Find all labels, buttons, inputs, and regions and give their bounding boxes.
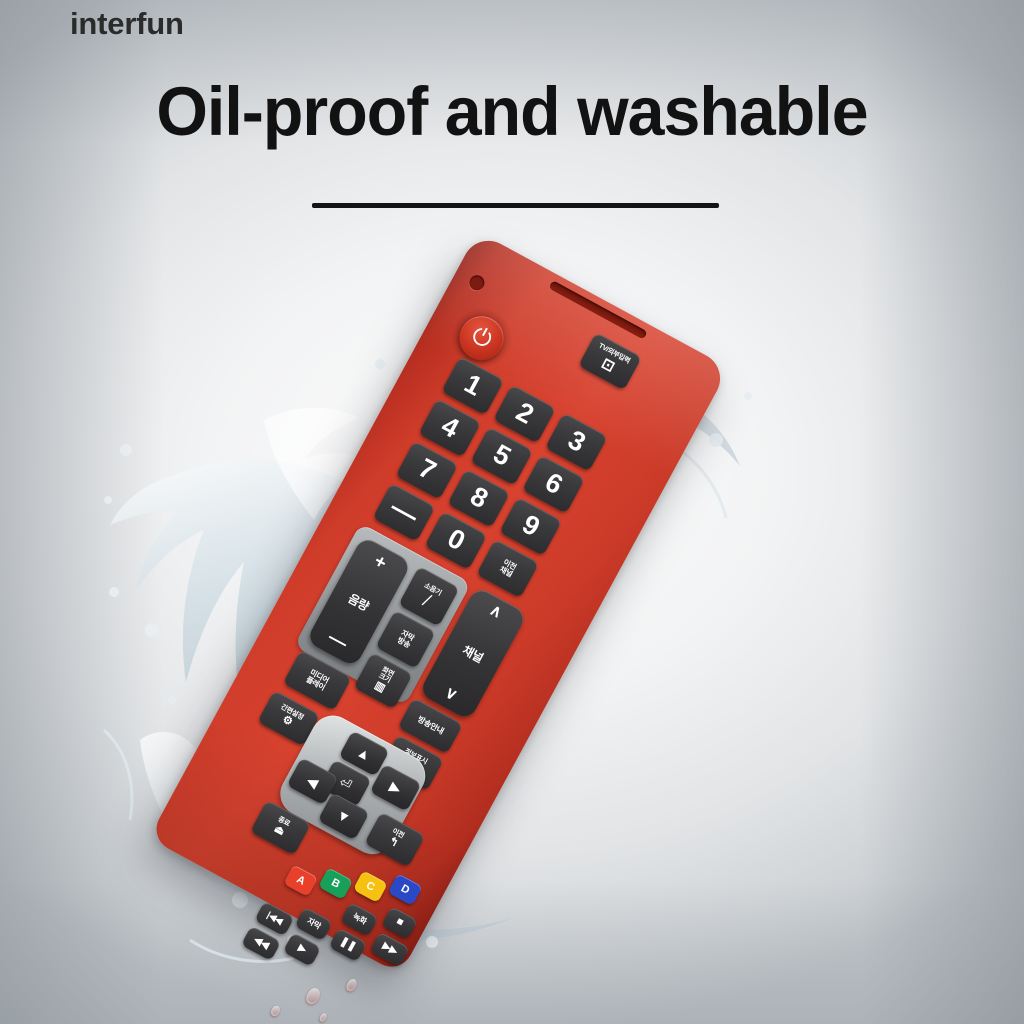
- quick-setup-icon: ⚙: [280, 715, 294, 729]
- caption-label: 자막 방송: [396, 629, 415, 649]
- color-key-d[interactable]: D: [388, 873, 423, 906]
- channel-up-button[interactable]: ∧: [487, 602, 505, 622]
- title-divider: [312, 203, 719, 208]
- media-play-label: 미디어 플레이: [305, 669, 330, 692]
- water-droplet: [269, 1004, 281, 1017]
- mute-icon: ⧸: [422, 593, 433, 608]
- channel-down-button[interactable]: ∨: [442, 685, 460, 705]
- page-title: Oil-proof and washable: [20, 72, 1003, 151]
- water-droplet: [304, 986, 323, 1007]
- watermark-text: interfun: [70, 8, 184, 39]
- color-key-a[interactable]: A: [283, 864, 318, 897]
- water-droplet: [318, 1012, 328, 1023]
- remote-control[interactable]: ⏻ TV/외부입력 ⊡ 1 2 3 4 5 6 7 8 9 — 0 이전 채널 …: [149, 232, 730, 975]
- prev-channel-label: 이전 채널: [498, 559, 517, 579]
- volume-up-button[interactable]: +: [371, 552, 390, 574]
- keypad-area: ⏻ TV/외부입력 ⊡ 1 2 3 4 5 6 7 8 9 — 0 이전 채널 …: [149, 232, 730, 975]
- screen-size-icon: ▥: [373, 680, 387, 695]
- volume-down-button[interactable]: —: [325, 628, 351, 654]
- back-icon: ↰: [386, 836, 399, 850]
- water-droplet: [345, 977, 359, 993]
- color-key-b[interactable]: B: [318, 867, 353, 900]
- broadcast-guide-label: 방송안내: [416, 715, 445, 736]
- color-key-c[interactable]: C: [353, 870, 388, 903]
- volume-label: 음량: [346, 589, 373, 614]
- exit-icon: ⏏: [272, 824, 286, 839]
- channel-label: 채널: [460, 641, 487, 666]
- tv-input-button[interactable]: TV/외부입력 ⊡: [578, 332, 642, 390]
- tv-input-icon: ⊡: [599, 356, 617, 375]
